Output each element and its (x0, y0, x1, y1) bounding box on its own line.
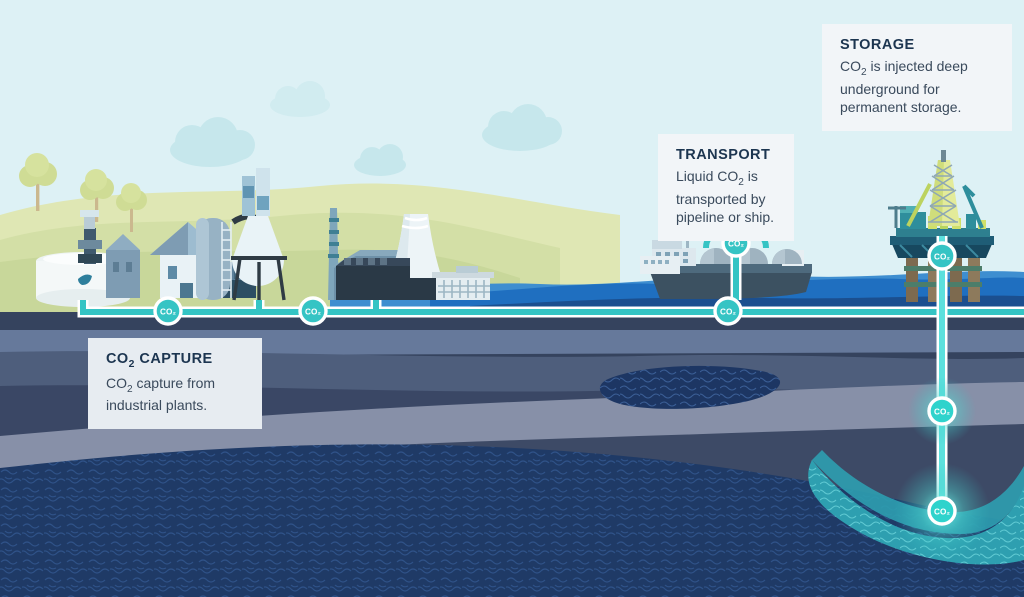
callout-storage-title: STORAGE (840, 36, 996, 55)
node-injection[interactable]: CO₂ (929, 498, 955, 524)
co2-node-label: CO₂ (934, 407, 950, 416)
callout-storage-body: CO2 is injected deep underground for per… (840, 57, 996, 117)
co2-node-label: CO₂ (720, 307, 736, 316)
coastal-terminal (640, 256, 680, 274)
callout-transport-title: TRANSPORT (676, 146, 778, 165)
node-well-mid[interactable]: CO₂ (929, 398, 955, 424)
callout-storage-line1: CO2 is injected deep (840, 57, 996, 79)
callout-transport-line1: Liquid CO2 is (676, 167, 778, 189)
callout-capture: CO2 CAPTURE CO2 capture from industrial … (88, 338, 262, 429)
node-plant-2[interactable]: CO₂ (300, 298, 326, 324)
co2-node-label: CO₂ (934, 252, 950, 261)
co2-node-label: CO₂ (305, 307, 321, 316)
callout-capture-line2: industrial plants. (106, 396, 246, 415)
node-platform[interactable]: CO₂ (929, 243, 955, 269)
callout-storage: STORAGE CO2 is injected deep underground… (822, 24, 1012, 131)
callout-transport: TRANSPORT Liquid CO2 is transported by p… (658, 134, 794, 241)
co2-node-label: CO₂ (160, 307, 176, 316)
node-plant-1[interactable]: CO₂ (155, 298, 181, 324)
co2-node-label: CO₂ (934, 507, 950, 516)
callout-capture-body: CO2 capture from industrial plants. (106, 374, 246, 415)
callout-storage-line2: underground for (840, 80, 996, 99)
node-offshore[interactable]: CO₂ (715, 298, 741, 324)
callout-storage-line3: permanent storage. (840, 98, 996, 117)
ccs-infographic: CO₂CO₂CO₂CO₂CO₂CO₂CO₂ STORAGE CO2 is inj… (0, 0, 1024, 597)
callout-capture-line1: CO2 capture from (106, 374, 246, 396)
callout-transport-line3: pipeline or ship. (676, 208, 778, 227)
callout-transport-line2: transported by (676, 190, 778, 209)
spherical-tanks (700, 248, 802, 264)
callout-capture-title: CO2 CAPTURE (106, 350, 246, 372)
callout-transport-body: Liquid CO2 is transported by pipeline or… (676, 167, 778, 227)
